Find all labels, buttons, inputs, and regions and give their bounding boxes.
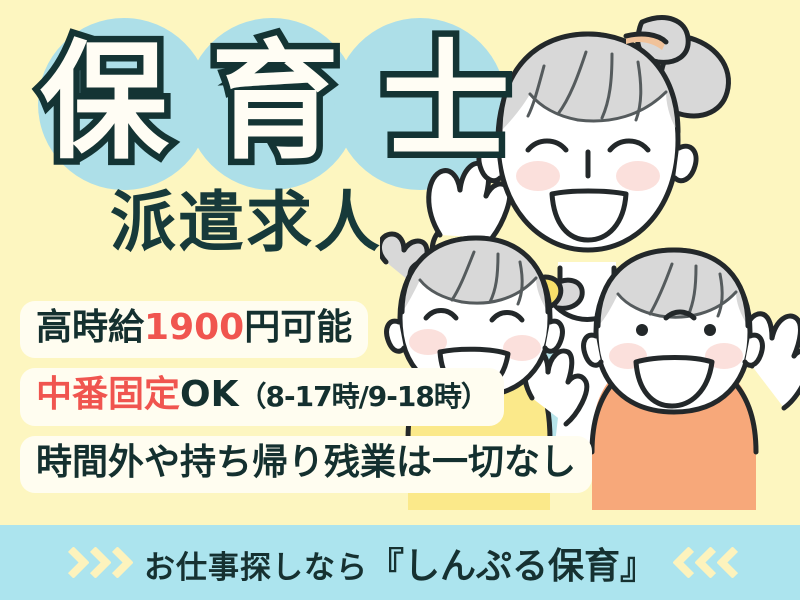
chevrons-left-group (678, 548, 739, 578)
chevron-right-icon (105, 548, 122, 578)
title-char-1: 保 (40, 39, 168, 167)
feature-pill-shift: 中番固定OK（8-17時/9-18時） (22, 370, 502, 423)
wage-suffix: 円可能 (244, 307, 352, 348)
chevrons-right-group (61, 548, 122, 578)
promo-lead: お仕事探しなら (144, 542, 368, 587)
promo-brand: しんぷる保育 (404, 537, 620, 589)
promo-open-bracket: 『 (368, 537, 404, 589)
feature-text-wage: 高時給1900円可能 (36, 307, 352, 348)
feature-pill-wage: 高時給1900円可能 (22, 303, 366, 356)
promo-close-bracket: 』 (620, 537, 656, 589)
chevron-left-icon (700, 548, 717, 578)
feature-text-overtime: 時間外や持ち帰り残業は一切なし (36, 442, 576, 483)
bottom-promo-bar: お仕事探しなら『しんぷる保育』 (0, 525, 800, 600)
feature-list: 高時給1900円可能 中番固定OK（8-17時/9-18時） 時間外や持ち帰り残… (22, 303, 590, 491)
page-title: 保 育 士 (40, 33, 510, 173)
promo-text: お仕事探しなら『しんぷる保育』 (144, 537, 656, 589)
feature-pill-overtime: 時間外や持ち帰り残業は一切なし (22, 438, 590, 491)
shift-ok: OK (180, 374, 239, 415)
wage-prefix: 高時給 (36, 307, 144, 348)
chevron-left-icon (678, 548, 695, 578)
chevron-right-icon (83, 548, 100, 578)
wage-amount: 1900 (144, 307, 244, 348)
job-ad-banner: .ln{fill:none;stroke:#23282a;stroke-widt… (0, 0, 800, 600)
feature-text-shift: 中番固定OK（8-17時/9-18時） (36, 374, 488, 415)
title-char-2: 育 (211, 39, 339, 167)
chevron-left-icon (722, 548, 739, 578)
shift-hours: （8-17時/9-18時） (239, 380, 488, 413)
chevron-right-icon (61, 548, 78, 578)
title-char-3: 士 (382, 39, 510, 167)
shift-label: 中番固定 (36, 374, 180, 415)
page-subtitle: 派遣求人 (110, 190, 382, 256)
